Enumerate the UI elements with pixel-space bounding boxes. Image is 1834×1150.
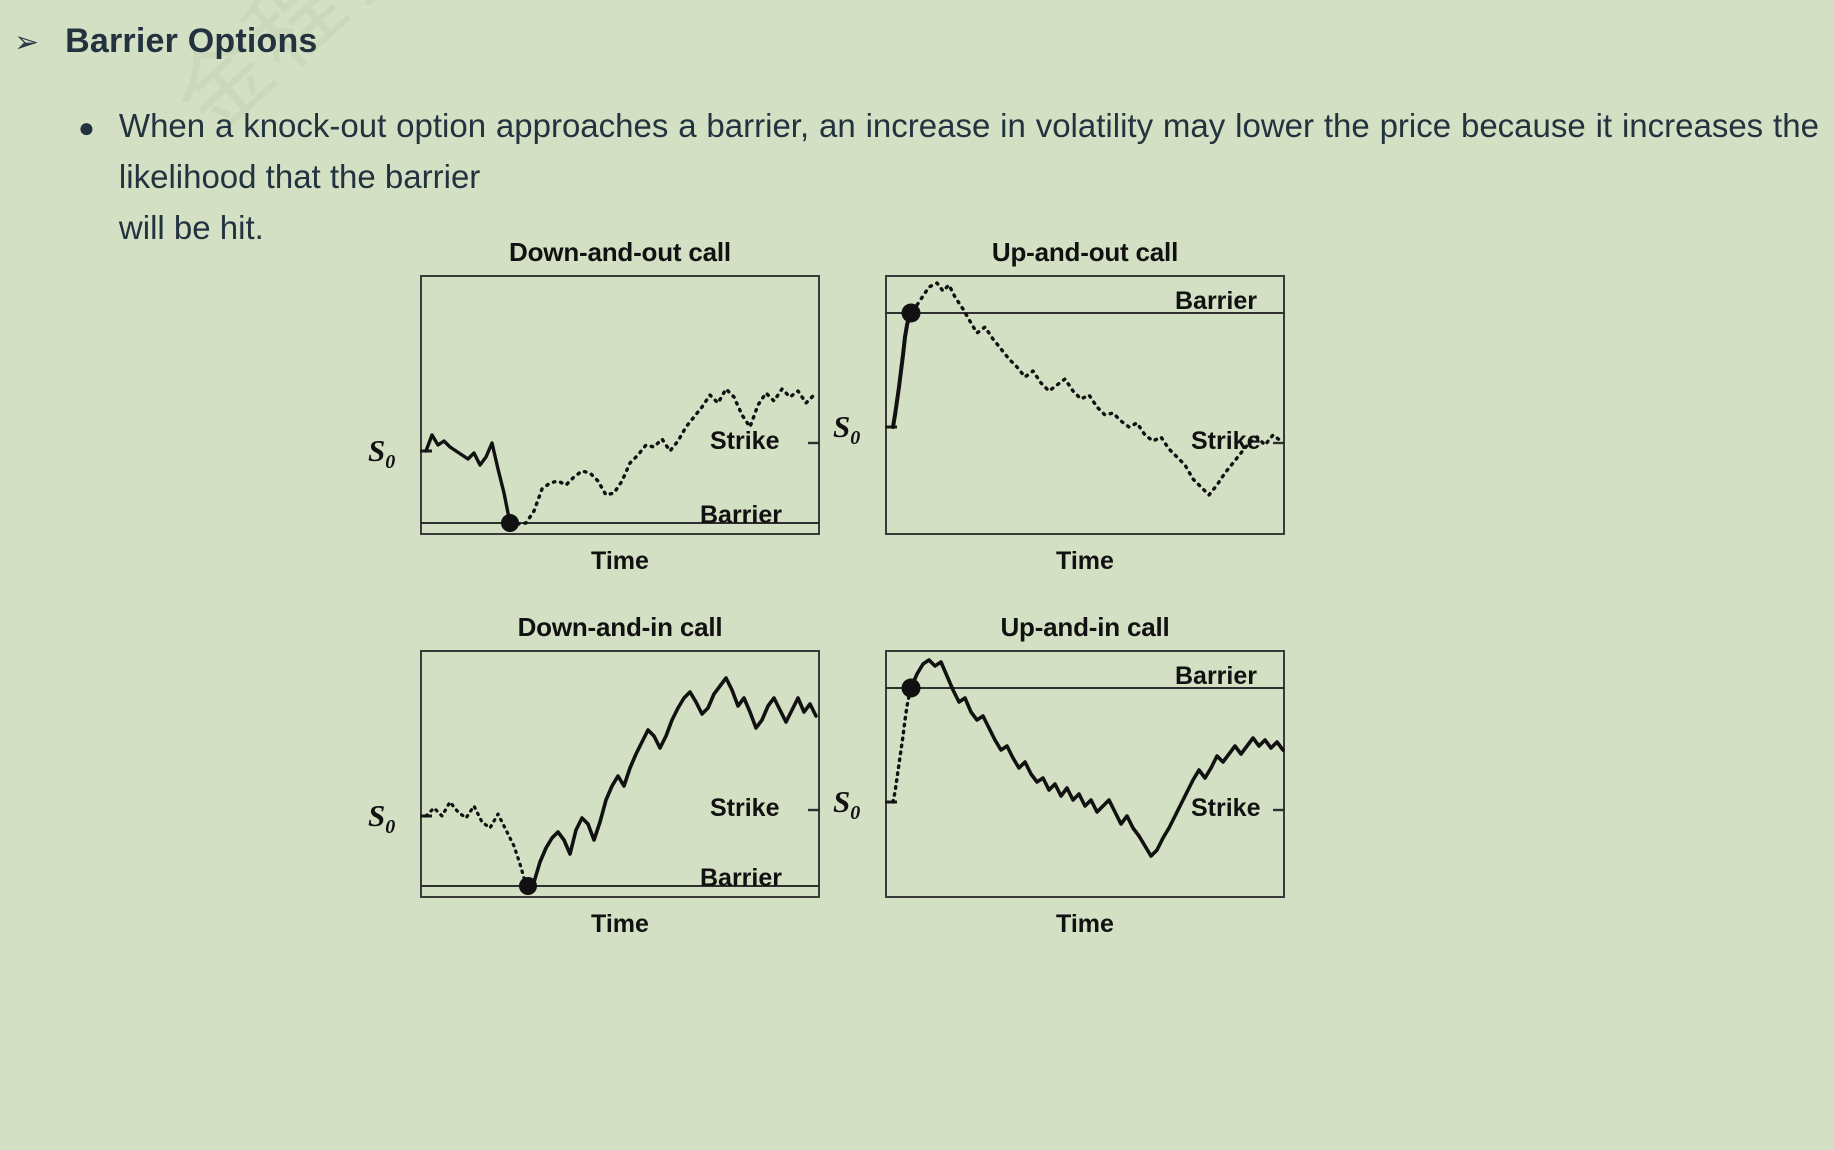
chart-down-and-in-call: Down-and-in call S0 Strike Barrier Time bbox=[420, 650, 820, 898]
xaxis-label-down-and-out: Time bbox=[420, 547, 820, 576]
page-title: Barrier Options bbox=[65, 22, 317, 61]
s0-label-up-and-in: S0 bbox=[833, 784, 860, 825]
strike-label-up-and-in: Strike bbox=[1191, 794, 1260, 823]
dot-bullet-icon: ● bbox=[78, 114, 95, 142]
body-paragraph: When a knock-out option approaches a bar… bbox=[119, 100, 1819, 253]
plot-svg-down-and-out bbox=[420, 275, 820, 535]
s0-label-down-and-in: S0 bbox=[368, 798, 395, 839]
price-path-dotted bbox=[426, 802, 528, 886]
price-path-solid bbox=[528, 678, 816, 886]
xaxis-label-up-and-in: Time bbox=[885, 910, 1285, 939]
price-path-dotted bbox=[893, 688, 911, 802]
xaxis-label-down-and-in: Time bbox=[420, 910, 820, 939]
xaxis-label-up-and-out: Time bbox=[885, 547, 1285, 576]
barrier-label-up-and-in: Barrier bbox=[1175, 662, 1257, 691]
chart-down-and-out-call: Down-and-out call S0 Strike Barrier Time bbox=[420, 275, 820, 535]
chart-title-up-and-in: Up-and-in call bbox=[885, 612, 1285, 643]
arrow-bullet-icon: ➢ bbox=[14, 28, 39, 58]
body-row: ● When a knock-out option approaches a b… bbox=[78, 100, 1826, 253]
strike-label-up-and-out: Strike bbox=[1191, 427, 1260, 456]
chart-title-down-and-in: Down-and-in call bbox=[420, 612, 820, 643]
barrier-label-up-and-out: Barrier bbox=[1175, 287, 1257, 316]
chart-up-and-in-call: Up-and-in call S0 Barrier Strike Time bbox=[885, 650, 1285, 898]
barrier-label-down-and-out: Barrier bbox=[700, 501, 782, 530]
plot-svg-down-and-in bbox=[420, 650, 820, 898]
strike-label-down-and-in: Strike bbox=[710, 794, 779, 823]
price-path-solid bbox=[426, 435, 510, 523]
chart-title-down-and-out: Down-and-out call bbox=[420, 237, 820, 268]
price-path-solid bbox=[893, 313, 911, 427]
chart-up-and-out-call: Up-and-out call S0 Barrier Strike Time bbox=[885, 275, 1285, 535]
s0-label-up-and-out: S0 bbox=[833, 409, 860, 450]
strike-label-down-and-out: Strike bbox=[710, 427, 779, 456]
body-paragraph-main: When a knock-out option approaches a bar… bbox=[119, 107, 1819, 195]
chart-title-up-and-out: Up-and-out call bbox=[885, 237, 1285, 268]
heading-row: ➢ Barrier Options bbox=[14, 22, 318, 61]
s0-label-down-and-out: S0 bbox=[368, 433, 395, 474]
barrier-label-down-and-in: Barrier bbox=[700, 864, 782, 893]
